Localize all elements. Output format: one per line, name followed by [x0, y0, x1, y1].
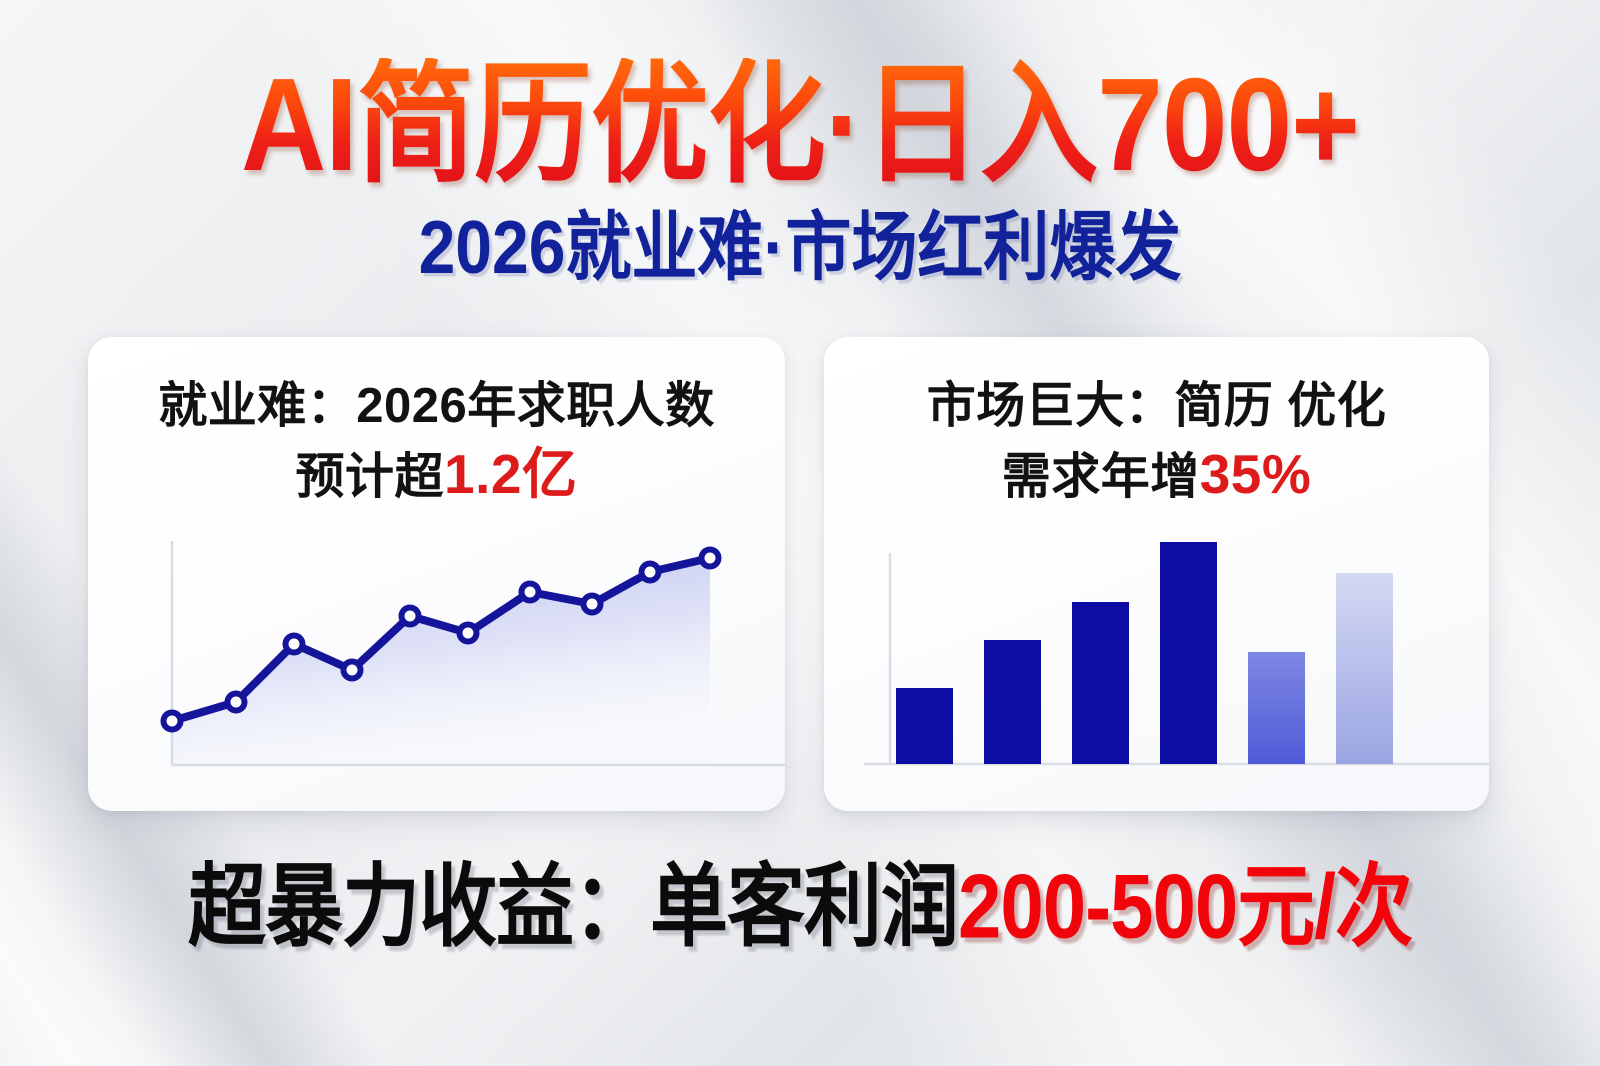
line-chart — [88, 525, 785, 811]
bar-chart — [824, 525, 1489, 811]
bar-2 — [984, 640, 1041, 764]
headline-container: AI简历优化·日入700+ — [0, 58, 1600, 178]
bar-chart-container — [824, 525, 1489, 811]
bottom-banner-highlight: 200-500元/次 — [958, 855, 1412, 957]
bottom-banner: 超暴力收益：单客利润200-500元/次 — [188, 860, 1412, 955]
bottom-banner-container: 超暴力收益：单客利润200-500元/次 — [0, 860, 1600, 942]
bottom-banner-label: 超暴力收益：单客利润 — [188, 855, 958, 957]
market-line-2-prefix: 需求年增 — [1002, 450, 1200, 504]
market-line-1: 市场巨大：简历 优化 — [927, 379, 1387, 433]
poster-subheadline: 2026就业难·市场红利爆发 — [419, 208, 1182, 287]
employment-line-1: 就业难：2026年求职人数 — [158, 379, 715, 433]
market-highlight-value: 35% — [1200, 443, 1312, 505]
employment-card-text: 就业难：2026年求职人数 预计超1.2亿 — [88, 375, 785, 510]
line-chart-area — [172, 558, 710, 765]
poster-canvas: AI简历优化·日入700+ 2026就业难·市场红利爆发 就业难：2026年求职… — [0, 0, 1600, 1066]
stat-card-market: 市场巨大：简历 优化 需求年增35% — [824, 337, 1489, 811]
bar-3 — [1072, 602, 1129, 764]
market-card-text: 市场巨大：简历 优化 需求年增35% — [824, 375, 1489, 510]
employment-line-2-prefix: 预计超 — [296, 450, 445, 504]
poster-headline: AI简历优化·日入700+ — [241, 58, 1359, 193]
bar-5 — [1248, 652, 1305, 764]
subheadline-container: 2026就业难·市场红利爆发 — [0, 208, 1600, 277]
bar-6 — [1336, 573, 1393, 764]
employment-highlight-value: 1.2亿 — [444, 443, 577, 505]
bar-1 — [896, 688, 953, 764]
bar-chart-bars — [896, 542, 1393, 764]
stat-card-employment: 就业难：2026年求职人数 预计超1.2亿 — [88, 337, 785, 811]
line-chart-container — [88, 525, 785, 811]
bar-4 — [1160, 542, 1217, 764]
